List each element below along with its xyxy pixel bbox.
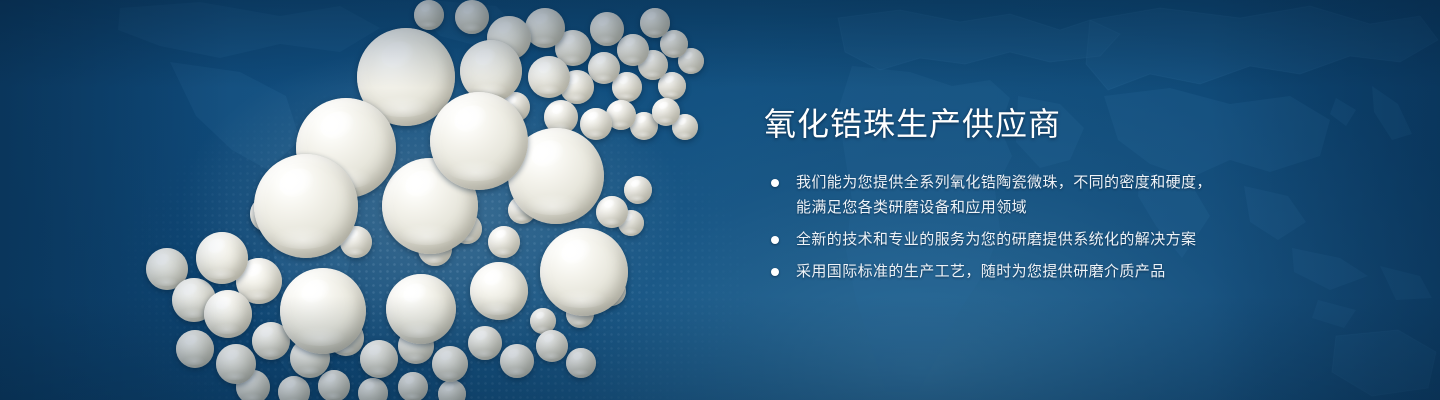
feature-bullet-item: 采用国际标准的生产工艺，随时为您提供研磨介质产品 [764, 259, 1224, 284]
bullet-dot-icon [771, 236, 779, 244]
hero-banner: 氧化锆珠生产供应商 我们能为您提供全系列氧化锆陶瓷微珠，不同的密度和硬度， 能满… [0, 0, 1440, 400]
feature-bullet-line: 我们能为您提供全系列氧化锆陶瓷微珠，不同的密度和硬度， [796, 170, 1224, 195]
feature-bullet-item: 我们能为您提供全系列氧化锆陶瓷微珠，不同的密度和硬度， 能满足您各类研磨设备和应… [764, 170, 1224, 220]
feature-bullet-line: 采用国际标准的生产工艺，随时为您提供研磨介质产品 [796, 259, 1224, 284]
background-vignette [0, 0, 1440, 400]
feature-bullet-item: 全新的技术和专业的服务为您的研磨提供系统化的解决方案 [764, 227, 1224, 252]
feature-bullet-list: 我们能为您提供全系列氧化锆陶瓷微珠，不同的密度和硬度， 能满足您各类研磨设备和应… [764, 170, 1224, 284]
feature-bullet-line: 全新的技术和专业的服务为您的研磨提供系统化的解决方案 [796, 227, 1224, 252]
banner-copy: 氧化锆珠生产供应商 我们能为您提供全系列氧化锆陶瓷微珠，不同的密度和硬度， 能满… [764, 104, 1224, 291]
bullet-dot-icon [771, 179, 779, 187]
bullet-dot-icon [771, 268, 779, 276]
banner-headline: 氧化锆珠生产供应商 [764, 104, 1224, 144]
feature-bullet-line: 能满足您各类研磨设备和应用领域 [796, 195, 1224, 220]
